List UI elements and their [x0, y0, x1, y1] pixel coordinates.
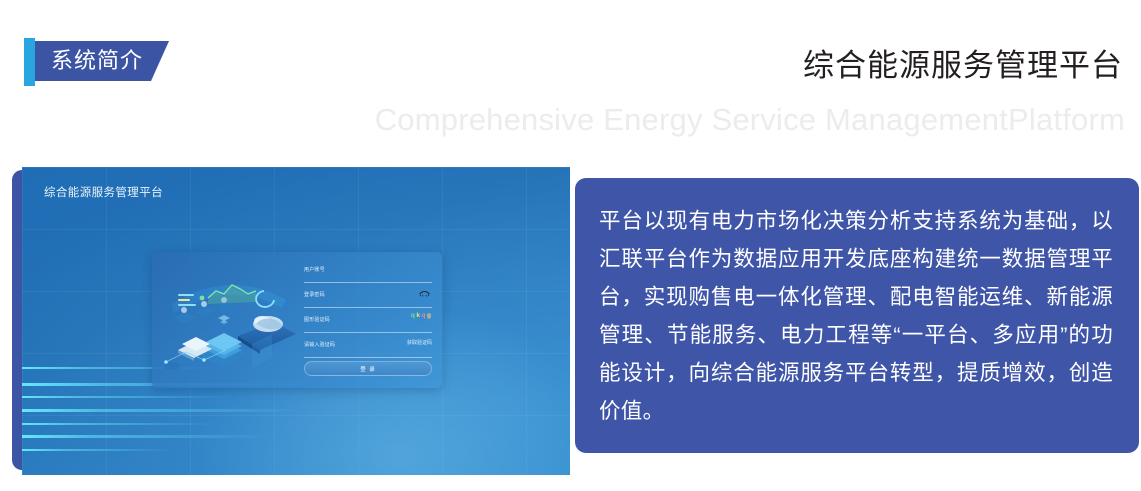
- login-field-password[interactable]: 登录密码: [304, 289, 432, 314]
- captcha-char: q: [422, 313, 426, 320]
- send-code-button[interactable]: 获取验证码: [407, 339, 432, 346]
- page-title: 综合能源服务管理平台: [803, 40, 1123, 85]
- section-tag-body: 系统简介: [35, 41, 169, 81]
- screenshot-app-title: 综合能源服务管理平台: [44, 184, 163, 200]
- login-field-captcha-label: 图形验证码: [304, 316, 330, 323]
- login-field-sms-code-underline: [304, 357, 432, 358]
- slide-root: 系统简介 综合能源服务管理平台 Comprehensive Energy Ser…: [0, 0, 1141, 491]
- captcha-char: k: [416, 313, 420, 320]
- login-submit-label: 登 录: [360, 365, 376, 373]
- captcha-image[interactable]: q k q g: [411, 313, 431, 320]
- isometric-tech-illustration: [156, 258, 302, 382]
- login-field-sms-code-label: 请输入验证码: [304, 341, 335, 348]
- login-field-account-label: 用户账号: [304, 266, 325, 273]
- login-field-account-underline: [304, 282, 432, 283]
- login-field-captcha[interactable]: 图形验证码 q k q g: [304, 314, 432, 339]
- page-subtitle: Comprehensive Energy Service ManagementP…: [375, 102, 1125, 138]
- app-screenshot-panel: 综合能源服务管理平台: [22, 167, 570, 475]
- login-field-account[interactable]: 用户账号: [304, 264, 432, 289]
- login-field-captcha-underline: [304, 332, 432, 333]
- captcha-char: q: [411, 313, 415, 320]
- description-text: 平台以现有电力市场化决策分析支持系统为基础，以汇联平台作为数据应用开发底座构建统…: [599, 202, 1113, 430]
- login-form: 用户账号 登录密码 图形验证码 q k q: [304, 264, 432, 364]
- section-tag-accent-bar: [24, 38, 35, 86]
- login-field-password-underline: [304, 307, 432, 308]
- eye-icon[interactable]: [419, 289, 430, 297]
- captcha-char: g: [427, 313, 431, 320]
- section-tag-label: 系统简介: [51, 50, 143, 72]
- login-card: 用户账号 登录密码 图形验证码 q k q: [152, 252, 442, 388]
- login-submit-button[interactable]: 登 录: [304, 361, 432, 376]
- section-tag-badge: 系统简介: [24, 41, 169, 81]
- description-card: 平台以现有电力市场化决策分析支持系统为基础，以汇联平台作为数据应用开发底座构建统…: [575, 178, 1139, 453]
- login-field-password-label: 登录密码: [304, 291, 325, 298]
